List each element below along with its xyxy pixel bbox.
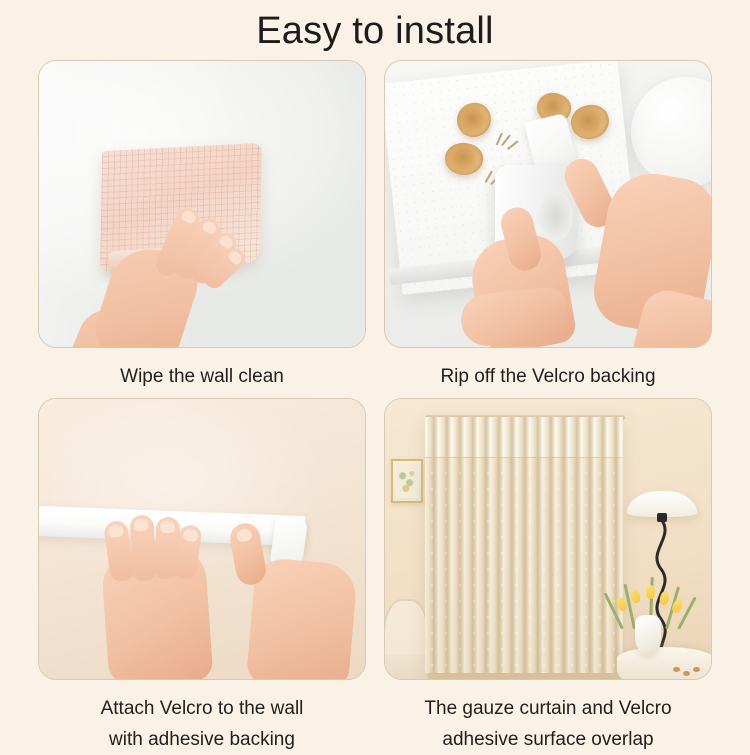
decor-nut — [693, 667, 700, 672]
side-table — [617, 647, 712, 680]
fingernail — [201, 219, 219, 236]
decor-nut — [673, 667, 680, 672]
step-card-2: Rip off the Velcro backing — [384, 60, 712, 392]
fingernail — [160, 521, 176, 534]
thumb — [228, 521, 268, 587]
step-4-caption: The gauze curtain and Velcro adhesive su… — [384, 693, 712, 755]
fingernail — [227, 249, 245, 267]
caption-line: Attach Velcro to the wall — [38, 693, 366, 724]
step-card-3: Attach Velcro to the wall with adhesive … — [38, 398, 366, 755]
scene-attach-wall — [39, 399, 365, 679]
hand-left-holding-roll — [461, 207, 591, 348]
hand-right-holding-end — [225, 521, 365, 680]
tulip-bud — [646, 585, 655, 599]
fingernail — [183, 528, 200, 542]
caption-line: adhesive surface overlap — [384, 724, 712, 755]
scene-wipe-wall — [39, 61, 365, 347]
fingernail — [107, 524, 124, 538]
finger-middle — [129, 514, 156, 581]
scene-curtain-room — [385, 399, 711, 679]
chair-back — [384, 599, 429, 680]
thumbnail — [236, 528, 253, 542]
caption-line: Rip off the Velcro backing — [384, 361, 712, 392]
tulip-bud — [659, 590, 671, 606]
hand-wiping — [77, 197, 227, 348]
step-3-caption: Attach Velcro to the wall with adhesive … — [38, 693, 366, 755]
step-2-photo-peel-velcro — [384, 60, 712, 348]
steps-grid: Wipe the wall clean — [38, 60, 712, 750]
step-1-caption: Wipe the wall clean — [38, 361, 366, 392]
step-2-caption: Rip off the Velcro backing — [384, 361, 712, 392]
page-title: Easy to install — [0, 8, 750, 54]
step-3-photo-attach-wall — [38, 398, 366, 680]
decor-nut — [683, 671, 690, 676]
caption-line: The gauze curtain and Velcro — [384, 693, 712, 724]
caption-line: Wipe the wall clean — [38, 361, 366, 392]
tulip-bud — [630, 588, 641, 603]
curtain-valance — [425, 417, 623, 458]
caption-line: with adhesive backing — [38, 724, 366, 755]
step-4-photo-curtain-room — [384, 398, 712, 680]
fingernail — [180, 209, 197, 225]
scene-peel-velcro — [385, 61, 711, 347]
installation-steps-infographic: Easy to install — [0, 0, 750, 750]
framed-botanical-print — [391, 459, 423, 503]
fingernail — [133, 519, 149, 532]
hand-left-pressing — [91, 515, 233, 680]
step-card-1: Wipe the wall clean — [38, 60, 366, 392]
step-card-4: The gauze curtain and Velcro adhesive su… — [384, 398, 712, 755]
white-vase — [635, 615, 661, 655]
step-1-photo-wipe-wall — [38, 60, 366, 348]
